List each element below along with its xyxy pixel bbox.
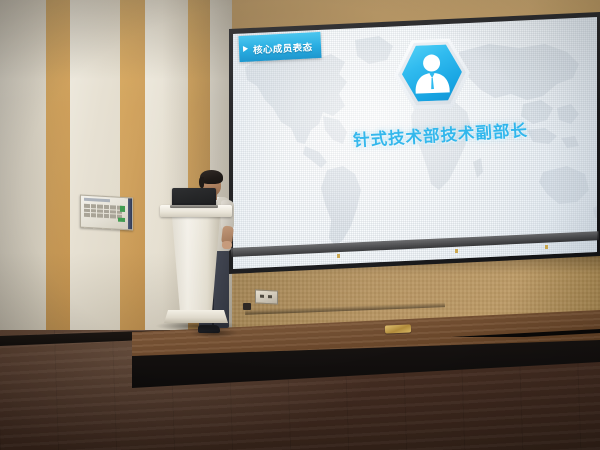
businessman-glyph-icon [401, 43, 463, 103]
control-panel-led2-icon [118, 218, 125, 222]
laptop[interactable] [172, 188, 216, 208]
laptop-base [170, 205, 218, 208]
led-display-screen[interactable]: 核心成员表态 针式技术部技术副部长 [227, 12, 600, 274]
presenter-hair-side [199, 177, 204, 188]
screen-clip-icon [337, 254, 340, 258]
arrow-right-icon [243, 46, 248, 52]
stage-floor-socket-cover-icon [385, 324, 411, 333]
person-hexagon-badge-icon [392, 33, 473, 116]
control-panel-buttons[interactable] [84, 204, 122, 219]
screenshot-root: 核心成员表态 针式技术部技术副部长 [0, 0, 600, 450]
control-panel-led-icon [120, 206, 125, 212]
power-socket-icon [255, 289, 278, 304]
section-ribbon-badge: 核心成员表态 [238, 32, 321, 62]
laptop-screen [174, 190, 214, 203]
control-panel-title-bar [84, 198, 110, 202]
control-panel-edge [128, 198, 132, 229]
screen-clip-icon [455, 249, 458, 253]
screen-clip-icon [545, 245, 548, 249]
lectern-base [162, 310, 230, 324]
ribbon-label: 核心成员表态 [253, 42, 313, 56]
ac-control-panel[interactable] [80, 195, 133, 231]
cable-plug-icon [243, 303, 251, 310]
lectern [160, 205, 232, 337]
